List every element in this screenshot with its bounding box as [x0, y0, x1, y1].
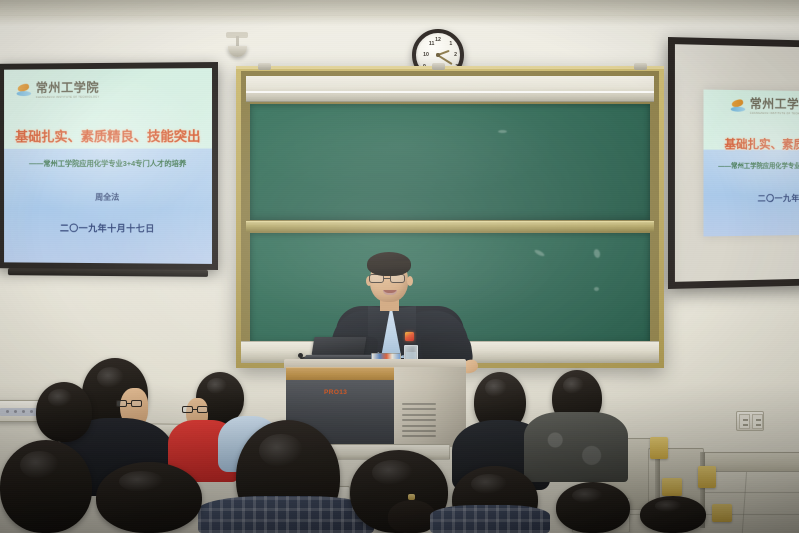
projection-screen-left: 常州工学院 CHANGZHOU INSTITUTE OF TECHNOLOGY … [0, 62, 218, 270]
camo-jacket-student [524, 412, 628, 482]
slide-date: 二〇一九年十月十七日 [4, 220, 212, 235]
hair-tie [408, 494, 415, 500]
clock-center-pin [436, 53, 439, 56]
slide-subtitle: ——常州工学院应用化学专业3+4专门人才的培养 [4, 158, 212, 169]
party-badge-pin [405, 332, 414, 341]
ceiling-shadow [0, 0, 799, 26]
slide-logo: 常州工学院 CHANGZHOU INSTITUTE OF TECHNOLOGY [16, 82, 99, 100]
bird-wave-logo-icon-right [730, 98, 745, 114]
eyeglasses-icon [116, 400, 144, 407]
slide-date-right: 二〇一九年十月十七日 [758, 191, 799, 203]
screen-canvas-right: 常州工学院 CHANGZHOU INSTITUTE OF TECHNOLOGY … [675, 44, 799, 282]
audience-head-front [640, 496, 706, 533]
armrest-right-4[interactable] [712, 504, 732, 522]
eyeglasses-icon [182, 406, 208, 413]
slide-surface-right: 常州工学院 CHANGZHOU INSTITUTE OF TECHNOLOGY … [703, 90, 799, 237]
slide-logo-right: 常州工学院 CHANGZHOU INSTITUTE OF TECHNOLOGY [730, 97, 799, 115]
slide-institution-cn: 常州工学院 [36, 82, 100, 95]
slide-subtitle-right: ——常州工学院应用化学专业3+4专门人才的培养 [718, 160, 799, 170]
lectern-brand-label: PRO13 [324, 389, 347, 396]
board-clip-center [432, 63, 445, 70]
armrest-right-2[interactable] [662, 478, 682, 496]
slide-title-right: 基础扎实、素质精良、技能突出 [724, 135, 799, 152]
clock-number: 2 [452, 53, 460, 58]
armrest-right-3[interactable] [698, 466, 716, 488]
laptop[interactable] [305, 337, 369, 361]
audience-head-front [556, 482, 630, 533]
slide-title: 基础扎实、素质精良、技能突出 [4, 125, 212, 145]
presentation-slide-right: 常州工学院 CHANGZHOU INSTITUTE OF TECHNOLOGY … [703, 90, 799, 237]
chalkboard-panel-upper [250, 104, 650, 220]
slide-institution-cn-right: 常州工学院 [750, 98, 799, 111]
lecture-hall-photo: 常州工学院 CHANGZHOU INSTITUTE OF TECHNOLOGY … [0, 0, 799, 533]
bird-wave-logo-icon [16, 83, 31, 99]
projection-screen-right: 常州工学院 CHANGZHOU INSTITUTE OF TECHNOLOGY … [668, 37, 799, 289]
clock-number: 10 [422, 53, 430, 58]
plaid-shirt-student [198, 496, 374, 533]
presentation-slide-left: 常州工学院 CHANGZHOU INSTITUTE OF TECHNOLOGY … [4, 68, 212, 264]
lectern-vent-grille [402, 403, 436, 437]
audience-head [36, 382, 92, 442]
audience-head-front [96, 462, 202, 533]
slide-institution-en-right: CHANGZHOU INSTITUTE OF TECHNOLOGY [750, 112, 799, 116]
clock-number: 1 [447, 42, 455, 47]
slide-institution-en: CHANGZHOU INSTITUTE OF TECHNOLOGY [36, 96, 100, 99]
board-panel-divider [246, 221, 654, 232]
lectern-wood-trim [286, 367, 394, 381]
audience-head-front [0, 440, 92, 533]
ponytail-student [388, 500, 436, 533]
board-clip-right [634, 63, 647, 70]
armrest-right-1[interactable] [650, 437, 668, 459]
speaker-hair [367, 252, 411, 276]
clock-number: 11 [428, 42, 436, 47]
board-clip-left [258, 63, 271, 70]
wall-power-outlet[interactable] [736, 411, 764, 431]
board-frame-highlight [236, 66, 664, 69]
board-top-rail [246, 76, 654, 102]
screen-canvas-left: 常州工学院 CHANGZHOU INSTITUTE OF TECHNOLOGY … [4, 68, 212, 264]
plaid-shirt-student-2 [430, 505, 550, 533]
slide-presenter: 周全法 [4, 190, 212, 202]
